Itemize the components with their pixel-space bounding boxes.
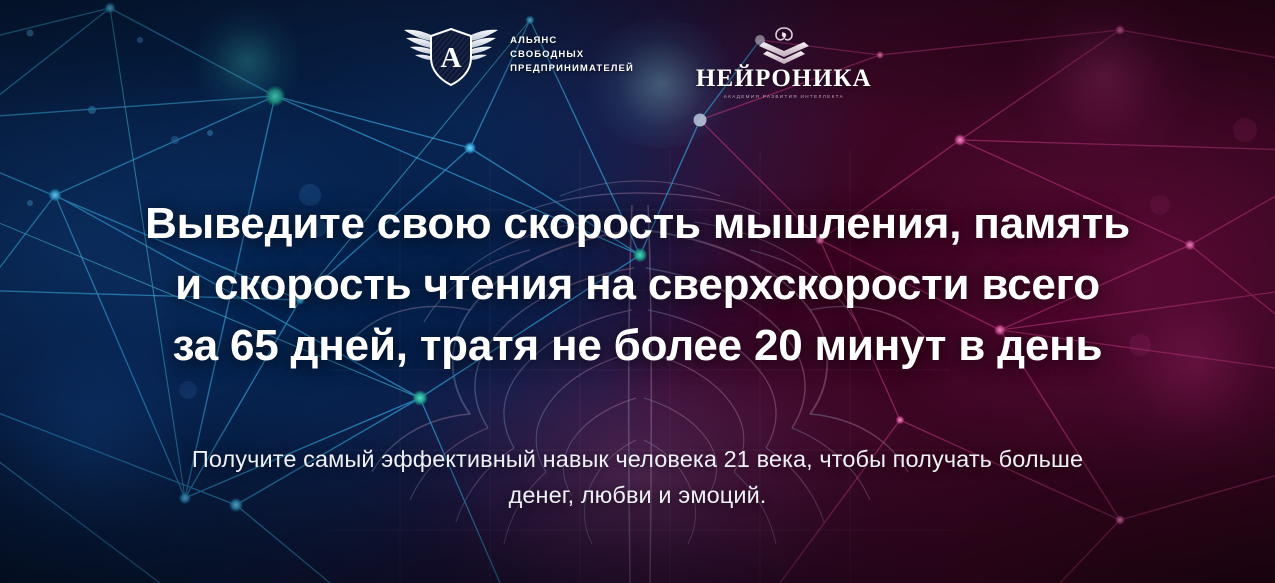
neuronika-tagline: АКАДЕМИЯ РАЗВИТИЯ ИНТЕЛЛЕКТА <box>724 94 844 99</box>
hero-headline: Выведите свою скорость мышления, память … <box>145 193 1130 376</box>
hero-banner: A АЛЬЯНС СВОБОДНЫХ ПРЕДПРИНИМАТЕЛЕЙ <box>0 0 1275 583</box>
alliance-logo-line-3: ПРЕДПРИНИМАТЕЛЕЙ <box>510 62 634 76</box>
neuronika-wordmark: НЕЙРОНИКА <box>696 66 872 91</box>
logo-alliance-of-free-entrepreneurs[interactable]: A АЛЬЯНС СВОБОДНЫХ ПРЕДПРИНИМАТЕЛЕЙ <box>403 22 634 88</box>
hero-subheadline: Получите самый эффективный навык человек… <box>192 442 1083 513</box>
logo-neuronika[interactable]: НЕЙРОНИКА АКАДЕМИЯ РАЗВИТИЯ ИНТЕЛЛЕКТА <box>696 22 872 99</box>
svg-text:A: A <box>441 42 462 74</box>
hero-content: A АЛЬЯНС СВОБОДНЫХ ПРЕДПРИНИМАТЕЛЕЙ <box>0 0 1275 583</box>
headline-line-2: и скорость чтения на сверхскорости всего <box>145 254 1130 315</box>
neuronika-emblem-icon <box>745 24 823 68</box>
alliance-logo-text: АЛЬЯНС СВОБОДНЫХ ПРЕДПРИНИМАТЕЛЕЙ <box>510 34 634 76</box>
logo-row: A АЛЬЯНС СВОБОДНЫХ ПРЕДПРИНИМАТЕЛЕЙ <box>403 22 872 99</box>
alliance-logo-line-1: АЛЬЯНС <box>510 34 634 48</box>
winged-shield-icon: A <box>403 22 499 88</box>
subheadline-line-2: денег, любви и эмоций. <box>192 478 1083 514</box>
headline-line-1: Выведите свою скорость мышления, память <box>145 193 1130 254</box>
subheadline-line-1: Получите самый эффективный навык человек… <box>192 442 1083 478</box>
headline-line-3: за 65 дней, тратя не более 20 минут в де… <box>145 315 1130 376</box>
alliance-logo-line-2: СВОБОДНЫХ <box>510 48 634 62</box>
